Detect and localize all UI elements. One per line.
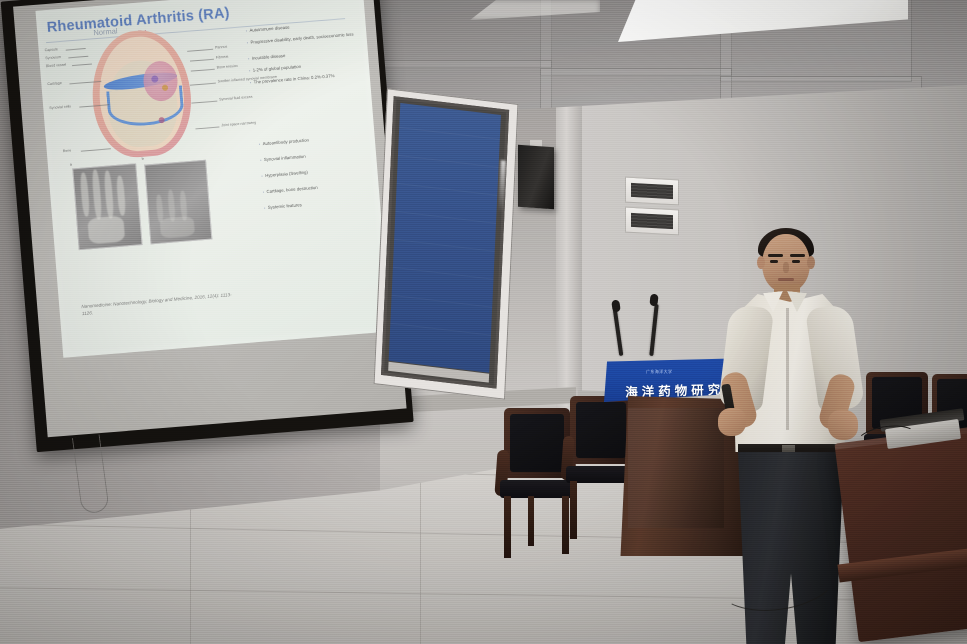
- diagram-left-label-0: Capsule: [45, 47, 58, 52]
- window-roller-blind[interactable]: [389, 103, 501, 373]
- shirt-placket: [786, 308, 789, 430]
- diagram-left-label-3: Cartilage: [47, 81, 62, 86]
- hand-right: [828, 410, 858, 440]
- eye-right: [792, 260, 800, 263]
- slide-bullet-top-3: 1-2% of global population: [249, 64, 302, 73]
- screen-surface: Rheumatoid Arthritis (RA) Normal RA: [13, 0, 406, 437]
- slide-bullet-top-1: Progressive disability, early death, soc…: [247, 31, 354, 45]
- diagram-left-label-5: Bone: [63, 148, 72, 153]
- slide-bullet-top-2: Incurable disease: [248, 53, 286, 61]
- xray-image-b: [144, 160, 212, 245]
- xray-caption-b: b: [142, 157, 144, 161]
- screen-frame: Rheumatoid Arthritis (RA) Normal RA: [1, 0, 414, 452]
- hand-left: [718, 408, 746, 436]
- wall-vent-lower: [625, 207, 679, 236]
- window: [374, 88, 519, 399]
- joint-anatomy-illustration: [81, 22, 201, 162]
- microphone-left-head: [611, 300, 621, 313]
- ear-left: [757, 256, 765, 269]
- diagram-left-label-4: Synovial cells: [49, 104, 71, 110]
- diagram-right-label-1: Fibrosis: [216, 55, 229, 60]
- diagram-left-label-2: Blood vessel: [46, 63, 67, 69]
- diagram-right-label-0: Pannus: [215, 45, 227, 50]
- xray-image-a: [72, 163, 142, 250]
- lecture-room-photo: Rheumatoid Arthritis (RA) Normal RA: [0, 0, 967, 644]
- ear-right: [807, 256, 815, 269]
- eyebrow-right: [790, 254, 805, 257]
- slide-citation: Nanomedicine: Nanotechnology, Biology an…: [81, 291, 242, 318]
- eye-left: [770, 260, 778, 263]
- diagram-right-label-4: Synovial fluid excess: [219, 95, 253, 102]
- slide-bullet-bottom-2: Hyperplasia (Swelling): [261, 170, 308, 179]
- eyebrow-left: [768, 254, 783, 257]
- projection-screen: Rheumatoid Arthritis (RA) Normal RA: [0, 0, 424, 462]
- mouth: [778, 278, 794, 281]
- vent-grille: [631, 183, 673, 199]
- window-frame: [381, 96, 509, 388]
- nose: [783, 262, 789, 273]
- vent-grille: [631, 213, 673, 229]
- diagram-right-label-2: Bone erosion: [216, 64, 237, 70]
- xray-caption-a: a: [70, 162, 72, 166]
- slide-bullet-bottom-0: Autoantibody production: [259, 137, 309, 146]
- wall-vent-upper: [625, 177, 679, 206]
- slide-bullet-bottom-4: Systemic features: [264, 202, 302, 210]
- conference-table: [834, 422, 967, 642]
- presentation-slide: Rheumatoid Arthritis (RA) Normal RA: [35, 0, 390, 358]
- slide-bullet-bottom-1: Synovial inflammation: [260, 154, 306, 163]
- institute-logo: 广东海洋大学: [646, 369, 672, 375]
- diagram-left-label-1: Synovium: [45, 55, 61, 60]
- wall-speaker: [518, 145, 554, 210]
- slide-bullet-bottom-3: Cartilage, bone destruction: [263, 185, 318, 194]
- diagram-right-label-5: Joint space narrowing: [221, 121, 256, 128]
